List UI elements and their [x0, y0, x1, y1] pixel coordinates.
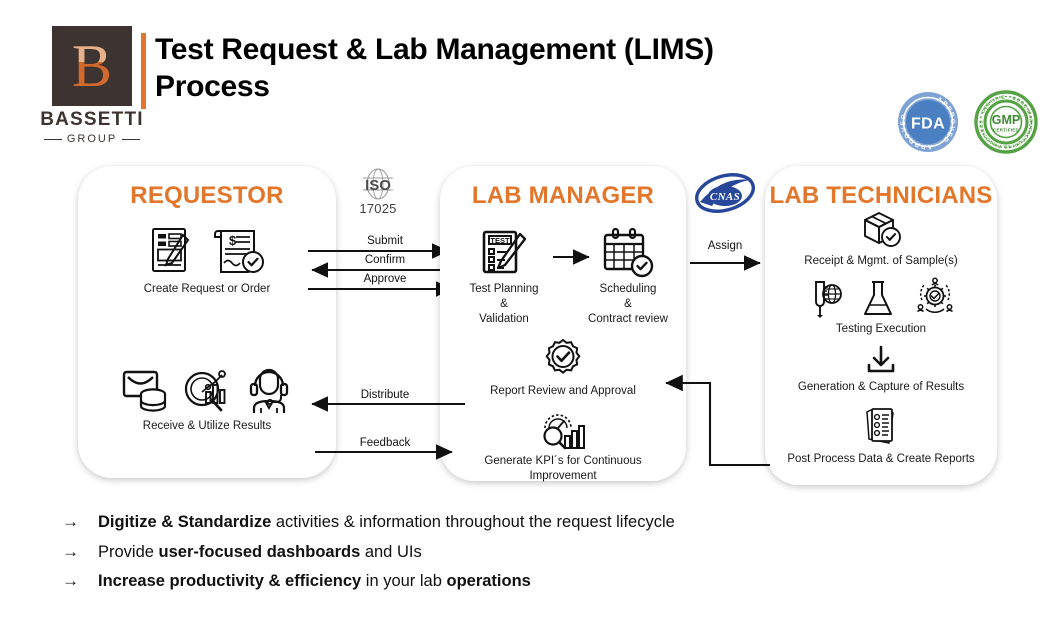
flow-label-feedback: Feedback — [318, 437, 452, 449]
bullet-1-rest: activities & information throughout the … — [271, 513, 675, 531]
logo-group-text: GROUP — [67, 133, 117, 145]
calendar-check-icon — [600, 226, 656, 278]
panel-requestor-title: REQUESTOR — [78, 182, 336, 210]
node-test-planning-label: Test Planning & Validation — [458, 282, 550, 328]
node-post-process[interactable]: Post Process Data & Create Reports — [770, 404, 992, 467]
node-testing-execution[interactable]: Testing Execution — [770, 276, 992, 337]
bullet-text-3: Increase productivity & efficiency in yo… — [98, 571, 531, 592]
bassetti-logo: B B BASSETTI GROUP — [36, 26, 148, 145]
iso-17025-certification: ISO 17025 — [348, 168, 408, 216]
node-create-request-icons: $ — [88, 222, 326, 278]
panel-lab-technicians-title: LAB TECHNICIANS — [765, 182, 997, 210]
node-test-planning[interactable]: TEST Test Planning & Validation — [458, 226, 550, 328]
node-test-planning-label-l1: Test Planning — [458, 282, 550, 297]
key-benefits-list: → Digitize & Standardize activities & in… — [62, 512, 962, 601]
bullet-arrow-icon: → — [62, 512, 98, 532]
test-clipboard-pencil-icon: TEST — [479, 226, 529, 278]
bullet-1-strong: Digitize & Standardize — [98, 513, 271, 531]
page-header: B B BASSETTI GROUP Test Request & Lab Ma… — [0, 0, 1060, 155]
bullet-3-strong-b: operations — [446, 572, 530, 590]
pipette-icon — [805, 278, 843, 318]
node-test-planning-label-l2: & — [458, 297, 550, 312]
node-generate-kpi-label-l2: Improvement — [452, 469, 674, 484]
node-generate-kpi[interactable]: Generate KPI´s for Continuous Improvemen… — [452, 410, 674, 484]
logo-letter-b-highlight-glyph: B — [52, 36, 132, 62]
magnifier-chart-icon — [182, 365, 234, 415]
fda-badge-label: FDA — [911, 116, 945, 133]
logo-wordmark: BASSETTI — [36, 109, 148, 131]
node-report-review-label: Report Review and Approval — [452, 384, 674, 399]
node-generation-capture[interactable]: Generation & Capture of Results — [770, 344, 992, 395]
node-report-review[interactable]: Report Review and Approval — [452, 338, 674, 399]
package-check-icon — [859, 208, 903, 250]
node-generate-kpi-label: Generate KPI´s for Continuous Improvemen… — [452, 454, 674, 484]
node-testing-execution-label: Testing Execution — [770, 322, 992, 337]
node-create-request[interactable]: $ Create Request or Order — [88, 222, 326, 297]
node-receipt-mgmt-icons — [770, 208, 992, 250]
node-receipt-mgmt[interactable]: Receipt & Mgmt. of Sample(s) — [770, 208, 992, 269]
bullet-arrow-icon: → — [62, 542, 98, 562]
logo-rule-right — [122, 139, 140, 140]
fda-badge: APPROVED · APPROVED · FDA — [896, 90, 960, 154]
node-scheduling-label-l2: & — [576, 297, 680, 312]
node-testing-execution-icons — [770, 276, 992, 318]
flow-arrow-assign — [688, 255, 770, 271]
node-receive-results[interactable]: Receive & Utilize Results — [88, 365, 326, 434]
gmp-badge-sub: CERTIFIED — [993, 128, 1019, 133]
kpi-gauge-chart-icon — [538, 410, 588, 450]
bullet-arrow-icon: → — [62, 571, 98, 591]
node-scheduling-label-l3: Contract review — [576, 312, 680, 327]
logo-mark: B B — [52, 26, 132, 106]
flow-label-approve: Approve — [318, 273, 452, 285]
iso-globe-icon: ISO — [358, 168, 398, 200]
node-post-process-icons — [770, 404, 992, 448]
bullet-3-mid: in your lab — [361, 572, 446, 590]
flow-label-confirm: Confirm — [318, 254, 452, 266]
rosette-check-icon — [542, 338, 584, 380]
quality-gear-icon — [913, 276, 957, 318]
node-scheduling-label-l1: Scheduling — [576, 282, 680, 297]
node-post-process-label: Post Process Data & Create Reports — [770, 452, 992, 467]
iso-number: 17025 — [348, 201, 408, 216]
node-receive-results-label: Receive & Utilize Results — [88, 419, 326, 434]
list-item: → Provide user-focused dashboards and UI… — [62, 542, 962, 563]
svg-text:$: $ — [229, 233, 237, 248]
gmp-badge: GOOD MANUFACTURING PRACTICES · CERTIFIED… — [974, 90, 1038, 154]
bullet-3-strong-a: Increase productivity & efficiency — [98, 572, 361, 590]
flow-label-distribute: Distribute — [318, 389, 452, 401]
gmp-badge-label: GMP — [992, 113, 1020, 127]
page-title-line1: Test Request & Lab Management (LIMS) — [155, 31, 855, 68]
node-generate-kpi-label-l1: Generate KPI´s for Continuous — [452, 454, 674, 469]
cnas-logo-icon: CNAS — [694, 172, 756, 214]
title-accent-bar — [141, 33, 146, 109]
logo-rule-left — [44, 139, 62, 140]
node-report-review-icons — [452, 338, 674, 380]
node-receive-results-icons — [88, 365, 326, 415]
node-generate-kpi-icons — [452, 410, 674, 450]
mail-database-icon — [120, 365, 172, 415]
logo-letter-b-highlight: B — [52, 36, 132, 62]
svg-text:TEST: TEST — [490, 236, 510, 245]
cnas-label: CNAS — [710, 191, 740, 203]
list-item: → Increase productivity & efficiency in … — [62, 571, 962, 592]
node-generation-capture-label: Generation & Capture of Results — [770, 380, 992, 395]
reports-stack-icon — [859, 404, 903, 448]
node-test-planning-label-l3: Validation — [458, 312, 550, 327]
page-title: Test Request & Lab Management (LIMS) Pro… — [155, 31, 855, 105]
cnas-certification: CNAS — [694, 172, 756, 214]
certification-badges: APPROVED · APPROVED · FDA GOOD MANUFACTU… — [896, 90, 1038, 154]
flask-icon — [861, 278, 895, 318]
bullet-text-2: Provide user-focused dashboards and UIs — [98, 542, 422, 563]
node-scheduling[interactable]: Scheduling & Contract review — [576, 226, 680, 328]
page-title-line2: Process — [155, 68, 855, 105]
node-generation-capture-icons — [770, 344, 992, 376]
document-pencil-icon — [145, 222, 201, 278]
bullet-2-post: and UIs — [360, 543, 421, 561]
headset-agent-icon — [244, 365, 294, 415]
node-scheduling-icons — [576, 226, 680, 278]
node-create-request-label: Create Request or Order — [88, 282, 326, 297]
invoice-check-icon: $ — [211, 222, 269, 278]
flow-elbow-post-process-to-report-review — [650, 376, 780, 472]
bullet-2-pre: Provide — [98, 543, 159, 561]
logo-group-row: GROUP — [36, 133, 148, 145]
node-receipt-mgmt-label: Receipt & Mgmt. of Sample(s) — [770, 254, 992, 269]
flow-label-submit: Submit — [318, 235, 452, 247]
panel-lab-manager-title: LAB MANAGER — [440, 182, 686, 210]
bullet-text-1: Digitize & Standardize activities & info… — [98, 512, 675, 533]
bullet-2-strong: user-focused dashboards — [159, 543, 361, 561]
flow-label-assign: Assign — [688, 240, 762, 252]
node-scheduling-label: Scheduling & Contract review — [576, 282, 680, 328]
download-icon — [864, 344, 898, 376]
node-test-planning-icons: TEST — [458, 226, 550, 278]
list-item: → Digitize & Standardize activities & in… — [62, 512, 962, 533]
iso-label: ISO — [365, 177, 391, 194]
